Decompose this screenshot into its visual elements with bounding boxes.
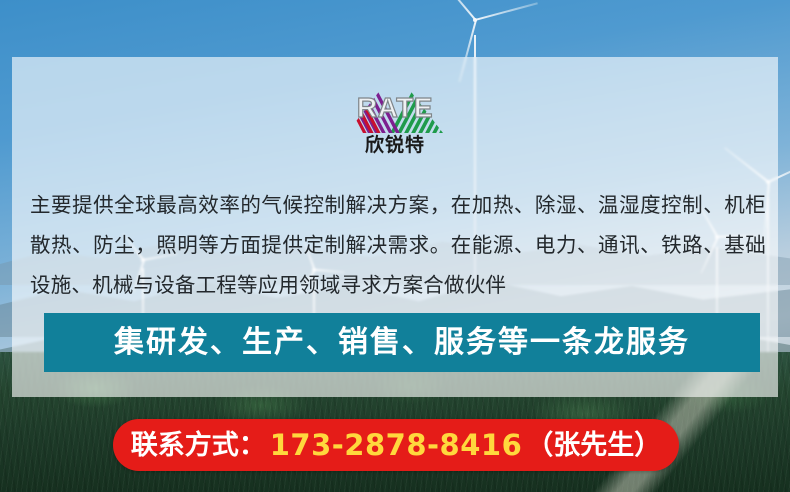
service-banner-text: 集研发、生产、销售、服务等一条龙服务 — [114, 328, 690, 358]
content-panel: RATE 欣锐特 主要提供全球最高效率的气候控制解决方案，在加热、除湿、温湿度控… — [12, 57, 778, 397]
service-banner: 集研发、生产、销售、服务等一条龙服务 — [44, 313, 760, 372]
rate-triangle-logo-icon: RATE — [343, 69, 447, 135]
company-name: 欣锐特 — [365, 136, 425, 155]
contact-badge[interactable]: 联系方式： 173-2878-8416 （张先生） — [113, 419, 679, 471]
contact-phone-number[interactable]: 173-2878-8416 — [268, 431, 525, 460]
contact-person-name: （张先生） — [526, 432, 661, 459]
contact-label: 联系方式： — [131, 432, 266, 459]
description-paragraph: 主要提供全球最高效率的气候控制解决方案，在加热、除湿、温湿度控制、机柜散热、防尘… — [30, 185, 766, 305]
brand-logo: RATE 欣锐特 — [12, 69, 778, 155]
promotional-poster: RATE 欣锐特 主要提供全球最高效率的气候控制解决方案，在加热、除湿、温湿度控… — [0, 0, 790, 492]
svg-text:RATE: RATE — [357, 92, 433, 123]
